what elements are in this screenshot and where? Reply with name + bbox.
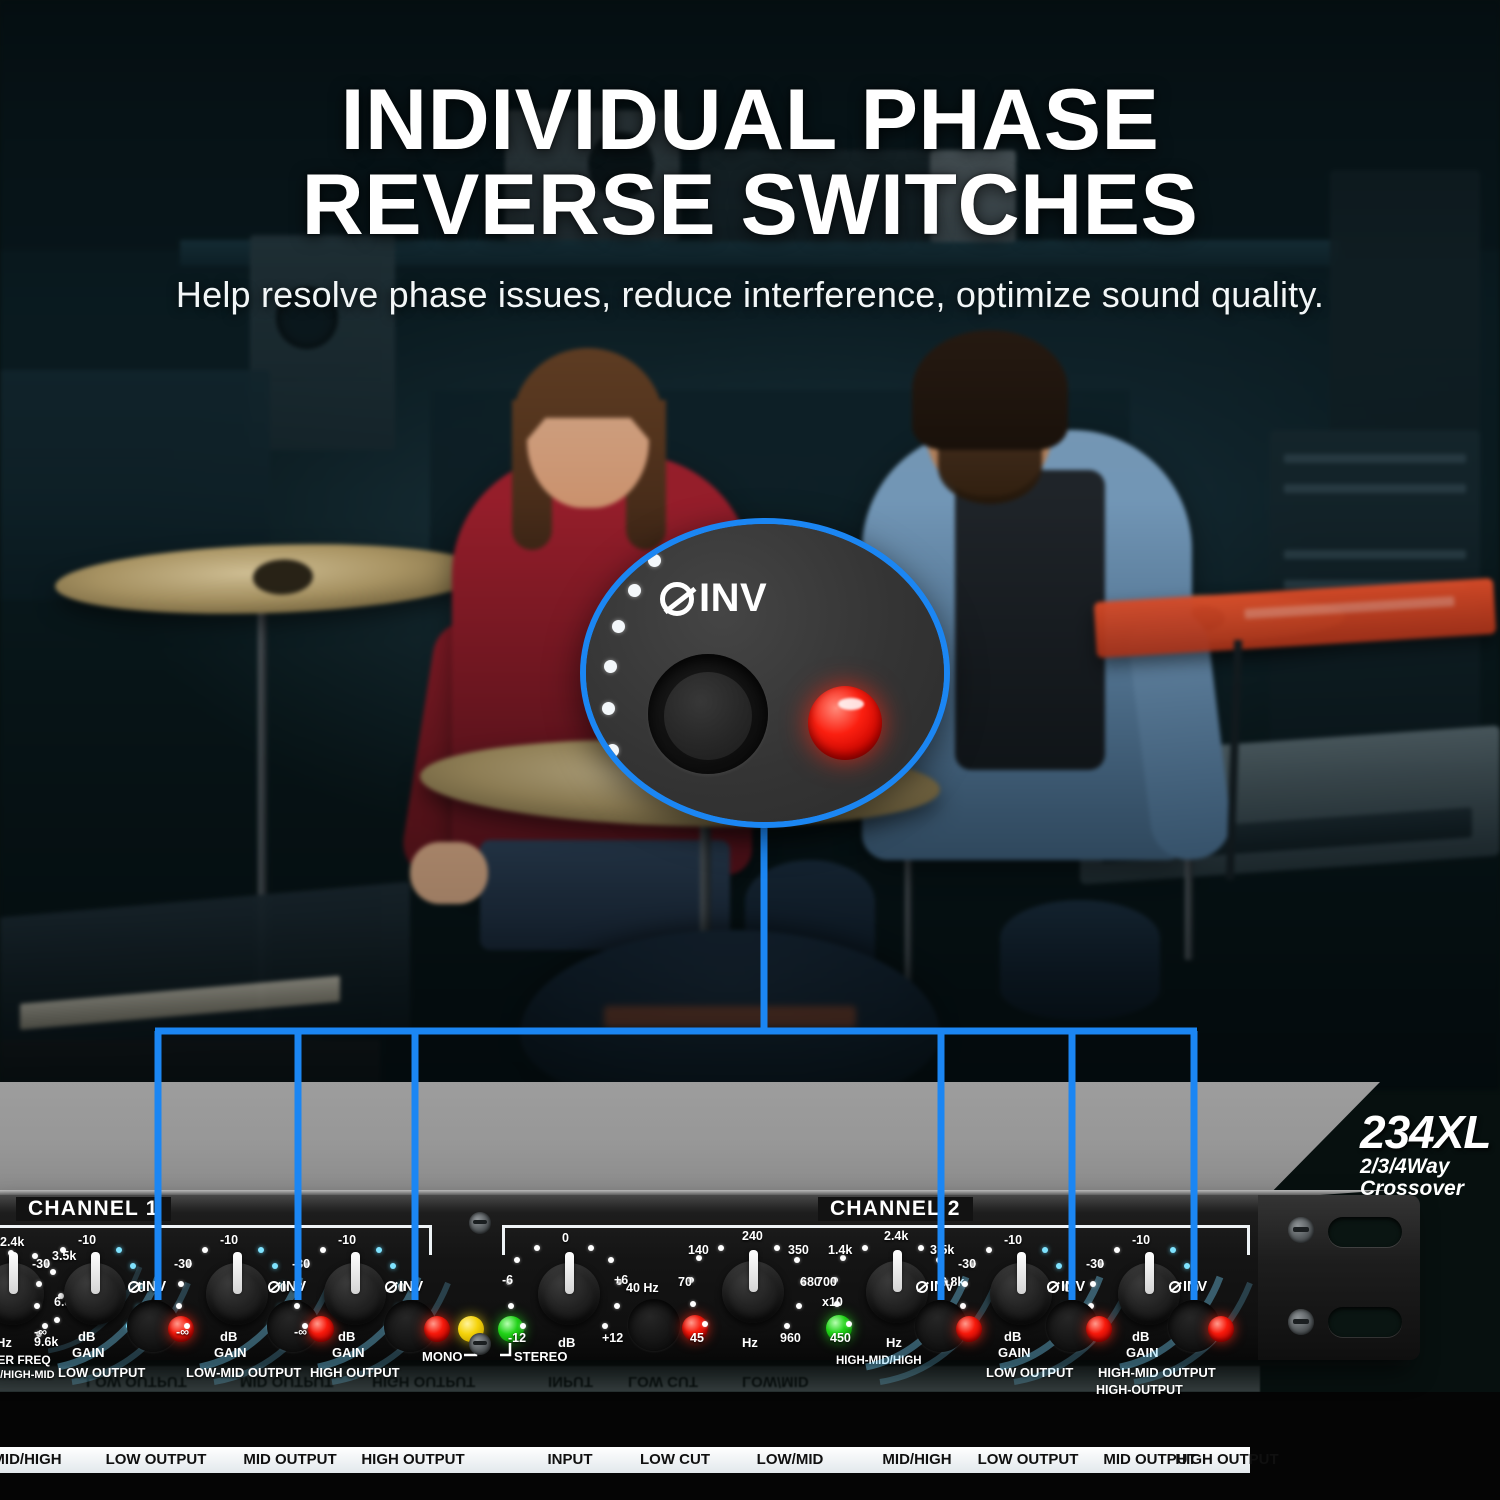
ch1-low-gain-tick-m30: -30 — [32, 1257, 50, 1271]
ch2-mid-inv-label: INV — [1047, 1279, 1085, 1295]
ch1-high-inv-led — [424, 1316, 450, 1342]
rack-ear-slot-top — [1328, 1217, 1402, 1247]
headline-line-1: INDIVIDUAL PHASE — [0, 78, 1500, 163]
ch1-mid-inv-led — [308, 1316, 334, 1342]
ch1-xover-tick-2k4: 2.4k — [0, 1235, 24, 1249]
inv-text: INV — [1183, 1279, 1207, 1295]
ch2-low-gain-knob[interactable] — [990, 1263, 1052, 1325]
inv-text: INV — [399, 1279, 423, 1295]
ch1-high-output-caption: HIGH OUTPUT — [310, 1365, 400, 1380]
ch1-mid-gain-tick-m10: -10 — [220, 1233, 238, 1247]
inv-text: INV — [930, 1279, 954, 1295]
strip-label-high-output-2: HIGH OUTPUT — [1142, 1447, 1312, 1473]
rack-mount-ear — [1258, 1195, 1420, 1360]
low-cut-button[interactable] — [628, 1299, 680, 1351]
lowmid-tick-350: 350 — [788, 1243, 809, 1257]
midhigh-tick-700: 700 — [816, 1275, 837, 1289]
lowmid-tick-140: 140 — [688, 1243, 709, 1257]
ch1-low-gain-tick-m10: -10 — [78, 1233, 96, 1247]
ch2-low-gain-caption: GAIN — [998, 1345, 1031, 1360]
ch2-mid-gain-tick-m30: -30 — [1086, 1257, 1104, 1271]
phase-symbol-icon — [1047, 1281, 1059, 1293]
ch2-high-inv-led — [1208, 1316, 1234, 1342]
ch1-mid-gain-tick-minf: -∞ — [176, 1325, 189, 1339]
ch2-low-gain-tick-m30: -30 — [958, 1257, 976, 1271]
ch2-high-output-caption: HIGH-OUTPUT — [1096, 1383, 1183, 1397]
phase-symbol-icon — [1169, 1281, 1181, 1293]
ch1-xover-caption-2: MID/HIGH-MID — [0, 1369, 55, 1381]
input-gain-knob[interactable] — [538, 1263, 600, 1325]
midhigh-tick-1k4: 1.4k — [828, 1243, 852, 1257]
midhigh-tick-2k4: 2.4k — [884, 1229, 908, 1243]
bottom-fill — [0, 1392, 1500, 1500]
ch1-high-gain-tick-m10: -10 — [338, 1233, 356, 1247]
channel-1-title: CHANNEL 1 — [16, 1197, 171, 1221]
rack-ear-screw-bottom — [1288, 1309, 1314, 1335]
ch2-mid-gain-unit: dB — [1132, 1329, 1149, 1344]
lowmid-tick-45: 45 — [690, 1331, 704, 1345]
ch2-highmid-output-caption: HIGH-MID OUTPUT — [1098, 1365, 1216, 1380]
ch1-low-gain-caption: GAIN — [72, 1345, 105, 1360]
model-type: Crossover — [1360, 1177, 1491, 1201]
ch2-low-inv-led — [956, 1316, 982, 1342]
midhigh-tick-3k5: 3.5k — [930, 1243, 954, 1257]
mono-stereo-brackets — [452, 1341, 552, 1359]
strip-label-high-output-1: HIGH OUTPUT — [328, 1447, 498, 1473]
low-cut-value: 40 Hz — [626, 1281, 659, 1295]
ch2-mid-inv-led — [1086, 1316, 1112, 1342]
input-tick-m6: -6 — [502, 1273, 513, 1287]
ch1-mid-gain-tick-m30: -30 — [174, 1257, 192, 1271]
midhigh-caption: HIGH-MID/HIGH — [836, 1355, 922, 1367]
headline-block: INDIVIDUAL PHASE REVERSE SWITCHES Help r… — [0, 78, 1500, 316]
input-tick-0: 0 — [562, 1231, 569, 1245]
ch1-low-inv-label: INV — [128, 1279, 166, 1295]
ch1-high-gain-tick-m30: -30 — [292, 1257, 310, 1271]
brand-model-block: 234XL 2/3/4Way Crossover — [1360, 1105, 1491, 1201]
lowmid-unit: Hz — [742, 1335, 758, 1350]
ch1-high-gain-tick-minf: -∞ — [294, 1325, 307, 1339]
lowmid-tick-960: 960 — [780, 1331, 801, 1345]
midhigh-tick-450: 450 — [830, 1331, 851, 1345]
inv-text: INV — [142, 1279, 166, 1295]
faceplate-screw — [469, 1333, 491, 1355]
ch2-high-inv-label: INV — [1169, 1279, 1207, 1295]
rack-ear-screw-top — [1288, 1217, 1314, 1243]
ch1-mid-gain-unit: dB — [220, 1329, 237, 1344]
product-marketing-image: INDIVIDUAL PHASE REVERSE SWITCHES Help r… — [0, 0, 1500, 1500]
phase-invert-led-magnified — [808, 686, 882, 760]
input-unit: dB — [558, 1335, 575, 1350]
ch1-high-gain-unit: dB — [338, 1329, 355, 1344]
phase-symbol-icon — [385, 1281, 397, 1293]
ch2-low-inv-label: INV — [916, 1279, 954, 1295]
headline-line-2: REVERSE SWITCHES — [0, 163, 1500, 248]
ch2-mid-gain-tick-m10: -10 — [1132, 1233, 1150, 1247]
ch2-low-gain-unit: dB — [1004, 1329, 1021, 1344]
phase-symbol-icon — [268, 1281, 280, 1293]
ch1-high-gain-knob[interactable] — [324, 1263, 386, 1325]
inv-label-magnified: INV — [660, 576, 767, 621]
channel-2-title: CHANNEL 2 — [818, 1197, 973, 1221]
low-mid-crossover-knob[interactable] — [722, 1261, 784, 1323]
midhigh-unit: Hz — [886, 1335, 902, 1350]
phase-symbol-icon — [128, 1281, 140, 1293]
strip-label-midhigh-1: MID/HIGH — [0, 1447, 82, 1473]
ch1-low-gain-unit: dB — [78, 1329, 95, 1344]
ch2-mid-gain-caption: GAIN — [1126, 1345, 1159, 1360]
lowmid-tick-240: 240 — [742, 1229, 763, 1243]
ch1-mid-gain-caption: GAIN — [214, 1345, 247, 1360]
unit-top-panel — [0, 1082, 1380, 1195]
phase-symbol-icon — [916, 1281, 928, 1293]
unit-faceplate: CHANNEL 1 CHANNEL 2 2.4k 3.5k 6.8k 9.6k … — [0, 1195, 1410, 1360]
phase-invert-magnifier-callout: INV — [580, 518, 950, 828]
subheadline: Help resolve phase issues, reduce interf… — [0, 274, 1500, 316]
model-number: 234XL — [1360, 1105, 1491, 1159]
faceplate-label-strip: MID/HIGH LOW OUTPUT MID OUTPUT HIGH OUTP… — [0, 1447, 1250, 1473]
ch1-lowmid-output-caption: LOW-MID OUTPUT — [186, 1365, 301, 1380]
ch1-high-gain-caption: GAIN — [332, 1345, 365, 1360]
inv-text: INV — [1061, 1279, 1085, 1295]
ch1-low-gain-knob[interactable] — [64, 1263, 126, 1325]
ch1-xover-caption-1: OVER FREQ — [0, 1353, 51, 1367]
ch2-low-gain-tick-m10: -10 — [1004, 1233, 1022, 1247]
lowmid-tick-70: 70 — [678, 1275, 692, 1289]
phase-symbol-icon — [660, 582, 694, 616]
input-tick-p12: +12 — [602, 1331, 623, 1345]
ch2-low-output-caption: LOW OUTPUT — [986, 1365, 1073, 1380]
phase-invert-button-magnified[interactable] — [648, 654, 768, 774]
ch1-mid-gain-knob[interactable] — [206, 1263, 268, 1325]
rack-ear-slot-bottom — [1328, 1307, 1402, 1337]
inv-text: INV — [282, 1279, 306, 1295]
input-tick-m12: -12 — [508, 1331, 526, 1345]
ch1-low-output-caption: LOW OUTPUT — [58, 1365, 145, 1380]
ch1-high-inv-label: INV — [385, 1279, 423, 1295]
ch1-low-gain-tick-minf: -∞ — [34, 1325, 47, 1339]
ch1-xover-unit: Hz — [0, 1335, 12, 1350]
magnifier-ring: INV — [580, 518, 950, 828]
faceplate-screw — [469, 1212, 491, 1234]
inv-text: INV — [699, 576, 767, 621]
ch1-crossover-freq-knob[interactable] — [0, 1263, 44, 1325]
crossover-rack-unit: CHANNEL 1 CHANNEL 2 2.4k 3.5k 6.8k 9.6k … — [0, 1082, 1500, 1392]
